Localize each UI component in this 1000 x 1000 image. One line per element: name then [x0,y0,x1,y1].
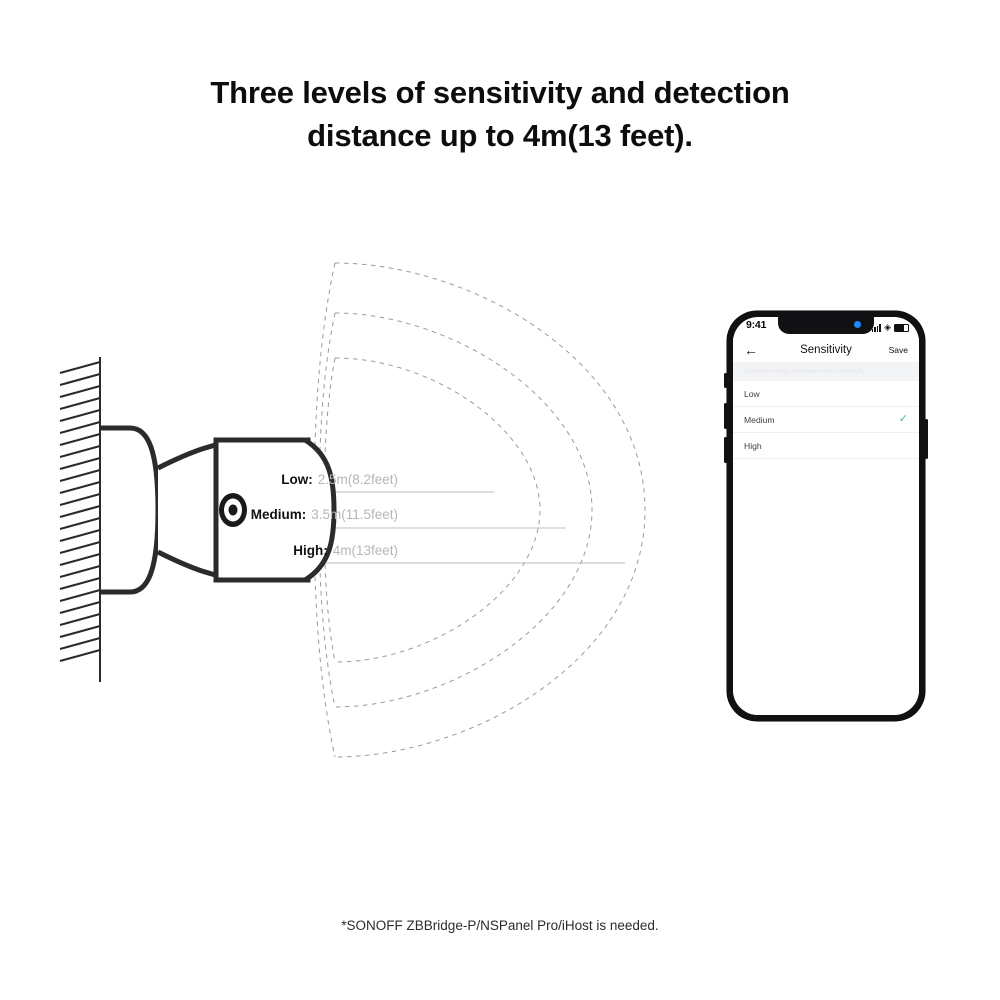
option-label-high: High [744,441,762,451]
wifi-icon: ◈ [884,323,891,332]
status-bar: 9:41 ◈ [733,317,919,337]
phone-volume-down-button[interactable] [724,437,727,463]
option-row-low[interactable]: Low [733,381,919,407]
phone-silent-switch[interactable] [724,373,727,388]
subtitle-strip: Detection range increases with sensitivi… [733,362,919,381]
option-row-high[interactable]: High [733,433,919,459]
cellular-signal-icon [872,324,881,332]
back-arrow-icon[interactable]: ← [744,343,758,357]
status-time: 9:41 [746,319,766,331]
phone-mockup: 9:41 ◈ ← Sensitivity Save De [727,311,925,721]
phone-notch [778,317,874,334]
range-label-high-name: High: [293,543,328,558]
range-label-high: High:4m(13feet) [230,543,398,558]
status-icons: ◈ [872,320,909,332]
footnote: *SONOFF ZBBridge-P/NSPanel Pro/iHost is … [0,918,1000,933]
sensitivity-options-list: Low Medium ✓ High [733,381,919,459]
wall-icon [60,357,100,682]
option-row-medium[interactable]: Medium ✓ [733,407,919,433]
range-label-low: Low:2.5m(8.2feet) [230,472,398,487]
range-label-low-value: 2.5m(8.2feet) [318,472,398,487]
phone-volume-up-button[interactable] [724,403,727,429]
option-label-low: Low [744,389,760,399]
app-header: ← Sensitivity Save [733,337,919,362]
range-label-medium-value: 3.5m(11.5feet) [311,507,398,522]
phone-power-button[interactable] [925,419,928,459]
checkmark-icon: ✓ [899,414,908,425]
range-label-low-name: Low: [281,472,313,487]
battery-icon [894,324,909,333]
option-label-medium: Medium [744,415,775,425]
range-label-medium-name: Medium: [251,507,307,522]
screen-empty-area [733,459,919,715]
range-label-medium: Medium:3.5m(11.5feet) [230,507,398,522]
save-button[interactable]: Save [889,345,908,355]
phone-screen: 9:41 ◈ ← Sensitivity Save De [733,317,919,715]
subtitle-text: Detection range increases with sensitivi… [744,368,865,375]
front-camera-dot-icon [854,321,861,328]
range-label-high-value: 4m(13feet) [333,543,398,558]
